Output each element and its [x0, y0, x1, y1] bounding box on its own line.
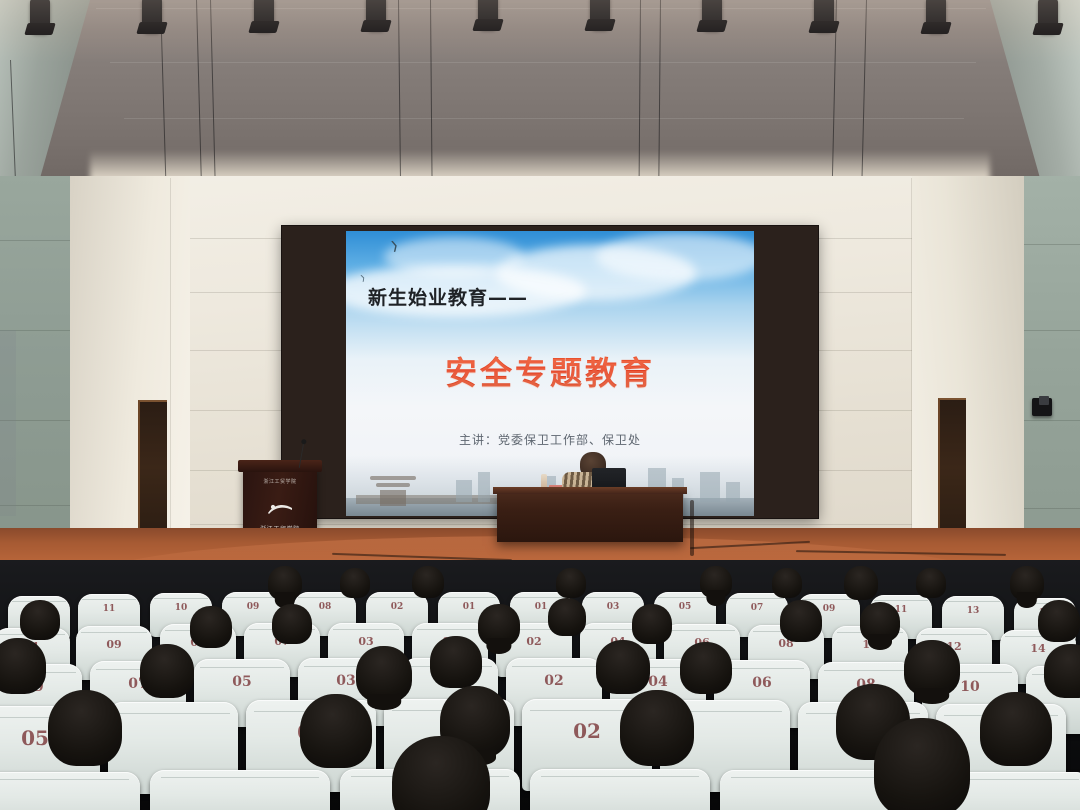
audience-member — [980, 692, 1052, 766]
audience-member — [548, 598, 586, 636]
seat-cover-fold — [512, 666, 597, 667]
audience-member — [340, 568, 370, 598]
podium-top — [238, 460, 322, 472]
audience-member — [20, 600, 60, 640]
wall-frame-left — [0, 330, 16, 516]
seat-cover-fold — [0, 779, 129, 780]
seat[interactable] — [530, 769, 710, 810]
audience-seating: 1211100908020101030507091113151109080703… — [0, 560, 1080, 810]
audience-member — [140, 644, 194, 698]
pagoda-icon — [364, 476, 422, 510]
audience-member — [632, 604, 672, 644]
seat-cover-fold — [226, 597, 281, 598]
seat-cover-fold — [720, 668, 805, 669]
building-shape — [700, 472, 720, 502]
wall-corner-left — [170, 178, 171, 578]
seat-cover-fold — [200, 667, 285, 668]
audience-member — [412, 566, 444, 598]
audience-member — [596, 640, 650, 694]
seat-cover-fold — [81, 632, 148, 633]
audience-member — [680, 642, 732, 694]
seat-cover-fold — [333, 629, 400, 630]
audience-member — [860, 602, 900, 642]
wall-speaker-lens-icon — [1039, 396, 1049, 405]
auditorium-photo: ❭ ❭ 新生始业教育—— 安全专题教育 主讲：党委保卫工作部、保卫处 浙江工贸学… — [0, 0, 1080, 810]
seat-cover-fold — [669, 630, 736, 631]
slide-title: 安全专题教育 — [346, 348, 754, 394]
seat-cover-fold — [417, 629, 484, 630]
seat[interactable] — [150, 770, 330, 810]
seat-cover-fold — [946, 601, 1001, 602]
seat-cover-fold — [298, 597, 353, 598]
audience-member — [300, 694, 372, 768]
seat-number: 11 — [78, 604, 140, 614]
wall-column-left — [70, 176, 190, 580]
seat-cover-fold — [586, 597, 641, 598]
seat-cover-fold — [731, 777, 889, 778]
seat[interactable] — [720, 770, 900, 810]
audience-member — [1044, 644, 1080, 698]
audience-member — [1010, 566, 1044, 600]
audience-member — [430, 636, 482, 688]
building-shape — [456, 480, 472, 502]
audience-member — [700, 566, 732, 598]
accent-seam — [1018, 420, 1080, 421]
seat-cover-fold — [154, 598, 209, 599]
seat-cover-fold — [161, 777, 319, 778]
seat-cover-fold — [658, 597, 713, 598]
seat-cover-fold — [541, 776, 699, 777]
seat-cover-fold — [82, 599, 137, 600]
audience-member — [780, 600, 822, 642]
audience-member — [904, 640, 960, 696]
seat-number: 02 — [506, 673, 602, 689]
seat-cover-fold — [116, 713, 230, 714]
accent-seam — [1018, 244, 1080, 245]
speaker-table — [497, 492, 683, 542]
audience-member — [1038, 600, 1080, 642]
seat-number: 09 — [76, 638, 152, 651]
podium-logo-icon — [266, 502, 294, 516]
seat-number: 09 — [222, 602, 284, 612]
audience-member — [556, 568, 586, 598]
audience-member — [916, 568, 946, 598]
audience-member — [0, 638, 46, 694]
seat-cover-fold — [824, 670, 909, 671]
audience-member — [620, 690, 694, 766]
slide-subtitle: 主讲：党委保卫工作部、保卫处 — [346, 431, 754, 448]
seat[interactable] — [0, 772, 140, 810]
table-top — [493, 487, 687, 494]
seat-number: 03 — [328, 635, 404, 648]
audience-member — [356, 646, 412, 702]
building-shape — [726, 482, 740, 502]
audience-member — [48, 690, 122, 766]
seat-cover-fold — [802, 599, 857, 600]
seat-cover-fold — [921, 634, 988, 635]
seat-cover-fold — [730, 598, 785, 599]
audience-member — [478, 604, 520, 646]
seat-number: 05 — [194, 674, 290, 690]
accent-seam — [1018, 508, 1080, 509]
seat-cover-fold — [370, 597, 425, 598]
podium-top-text: 浙江工贸学院 — [243, 478, 317, 485]
projection-screen[interactable]: ❭ ❭ 新生始业教育—— 安全专题教育 主讲：党委保卫工作部、保卫处 — [346, 231, 754, 516]
wall-corner-right — [911, 178, 912, 578]
cable — [690, 500, 694, 556]
cloud-shape — [596, 233, 754, 281]
side-wall-right-accent — [1018, 176, 1080, 580]
wall-column-right — [912, 176, 1024, 580]
audience-member — [190, 606, 232, 648]
audience-member — [772, 568, 802, 598]
seat-number: 07 — [726, 603, 788, 613]
seat-number: 13 — [942, 606, 1004, 616]
stage-reflection — [0, 0, 1080, 104]
audience-member — [874, 718, 970, 810]
audience-member — [844, 566, 878, 600]
ceiling-seam — [124, 118, 964, 119]
building-shape — [478, 472, 490, 502]
audience-member — [272, 604, 312, 644]
seat-number: 02 — [366, 602, 428, 612]
seat-cover-fold — [442, 597, 497, 598]
bird-icon: ❭ — [389, 240, 401, 253]
accent-seam — [1018, 330, 1080, 331]
seat-number: 03 — [582, 602, 644, 612]
slide-heading: 新生始业教育—— — [368, 283, 528, 310]
door-left[interactable] — [138, 400, 167, 547]
audience-member — [268, 566, 302, 600]
